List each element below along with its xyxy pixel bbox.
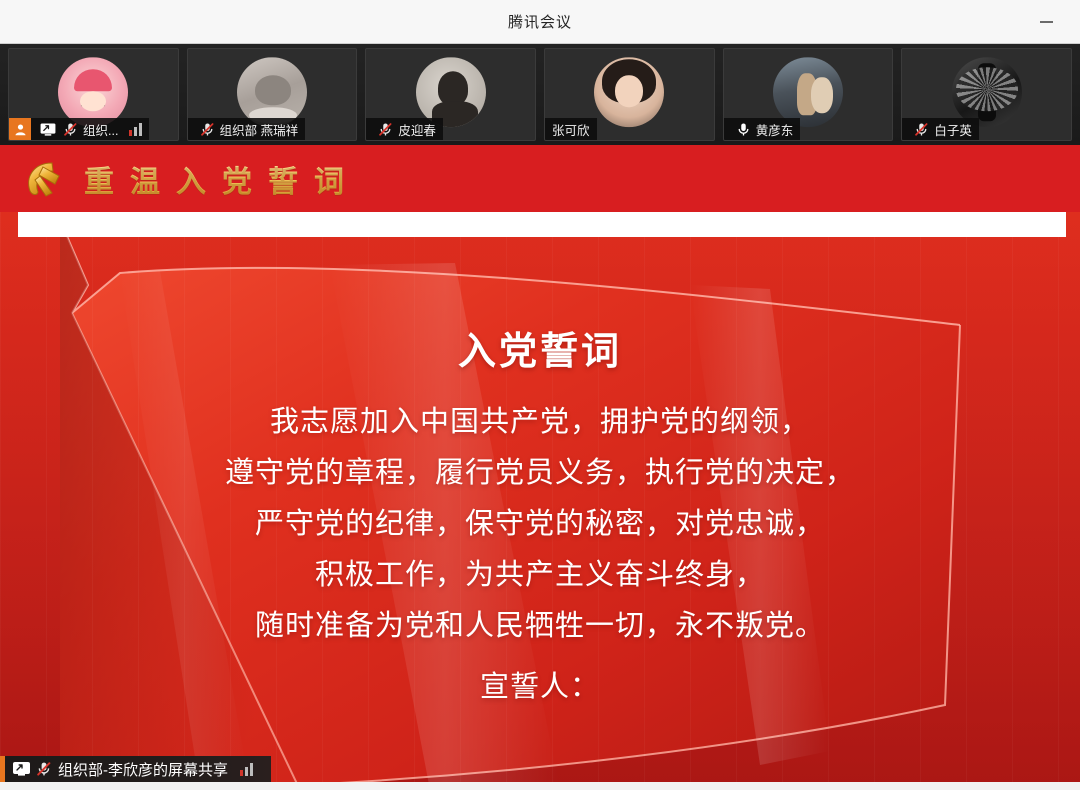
screen-share-icon [13,762,30,776]
banner-white-bar [18,212,1066,237]
screen-share-status-bar[interactable]: 组织部-李欣彦的屏幕共享 [0,756,271,782]
window-bottom-edge [0,782,1080,790]
mic-on-icon [736,122,751,137]
shared-screen-content: 重温入党誓词 入党誓词 我志愿加入中国共产党，拥护党的纲领，遵守党的章程，履行党… [0,145,1080,790]
participant-info-bar: 白子英 [902,118,979,140]
minimize-icon [1040,21,1053,23]
mic-muted-icon [36,761,52,777]
host-badge-icon [9,118,31,140]
slide-banner-title: 重温入党誓词 [84,157,360,201]
participant-name: 皮迎春 [398,120,436,139]
party-emblem-icon [22,159,66,199]
title-bar: 腾讯会议 [0,0,1080,44]
participant-tile[interactable]: 组织部 燕瑞祥 [187,48,358,141]
oath-signer-label: 宣誓人： [0,662,1080,713]
avatar [773,57,843,127]
participant-name: 组织部 燕瑞祥 [220,120,298,139]
participant-info-bar: 张可欣 [545,118,597,140]
participant-name: 张可欣 [552,120,590,139]
participant-info-bar: 黄彦东 [724,118,801,140]
avatar [952,57,1022,127]
participant-name: 黄彦东 [756,120,794,139]
slide-banner: 重温入党誓词 [0,145,1080,212]
avatar [416,57,486,127]
avatar [237,57,307,127]
oath-lines: 我志愿加入中国共产党，拥护党的纲领，遵守党的章程，履行党员义务，执行党的决定，严… [0,397,1080,652]
screen-share-icon [40,123,56,136]
oath-line: 积极工作，为共产主义奋斗终身， [0,550,1080,601]
mic-muted-icon [914,122,929,137]
participant-info-bar: 皮迎春 [366,118,443,140]
mic-muted-icon [200,122,215,137]
avatar [594,57,664,127]
participant-tile[interactable]: 组织... [8,48,179,141]
oath-line: 严守党的纪律，保守党的秘密，对党忠诚， [0,499,1080,550]
oath-line: 随时准备为党和人民牺牲一切，永不叛党。 [0,601,1080,652]
participant-info-bar: 组织... [9,118,149,140]
participant-name: 组织... [83,120,118,139]
participant-info-bar: 组织部 燕瑞祥 [188,118,305,140]
participant-strip: 组织... 组织部 燕瑞祥 皮迎春 张可欣 黄彦东 [0,44,1080,145]
participant-tile[interactable]: 黄彦东 [723,48,894,141]
oath-title: 入党誓词 [0,320,1080,375]
share-status-text: 组织部-李欣彦的屏幕共享 [58,759,228,780]
avatar [58,57,128,127]
meeting-window: 腾讯会议 组织... 组织部 燕瑞祥 [0,0,1080,790]
mic-muted-icon [378,122,393,137]
mic-muted-icon [63,122,78,137]
minimize-button[interactable] [1026,0,1066,44]
participant-tile[interactable]: 皮迎春 [365,48,536,141]
participant-name: 白子英 [934,120,972,139]
participant-tile[interactable]: 白子英 [901,48,1072,141]
signal-bars-icon [129,123,142,136]
oath-line: 我志愿加入中国共产党，拥护党的纲领， [0,397,1080,448]
oath-block: 入党誓词 我志愿加入中国共产党，拥护党的纲领，遵守党的章程，履行党员义务，执行党… [0,320,1080,713]
participant-tile[interactable]: 张可欣 [544,48,715,141]
oath-line: 遵守党的章程，履行党员义务，执行党的决定， [0,448,1080,499]
app-title: 腾讯会议 [508,11,572,32]
signal-bars-icon [240,763,253,776]
